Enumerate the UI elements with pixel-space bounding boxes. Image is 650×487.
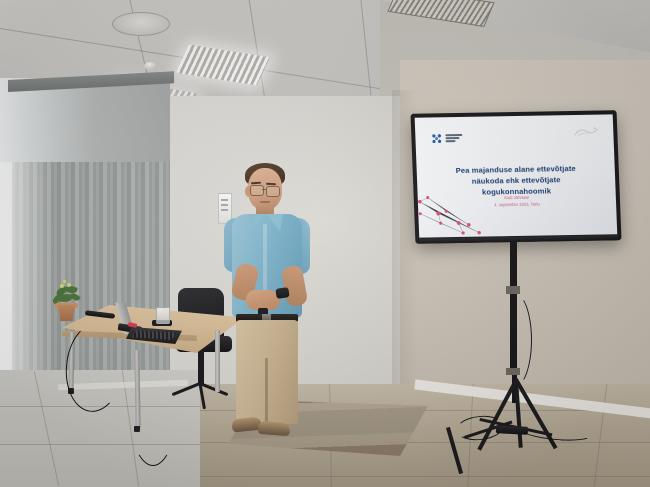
glasses-lens bbox=[250, 185, 264, 196]
glasses-bridge bbox=[262, 189, 267, 190]
shoe-right bbox=[258, 421, 291, 436]
presenter bbox=[218, 162, 326, 437]
drinking-glass bbox=[156, 307, 170, 324]
glasses-lens bbox=[266, 186, 280, 197]
smoke-detector bbox=[144, 62, 157, 70]
round-air-diffuser bbox=[112, 12, 170, 36]
chair-gas-post bbox=[198, 350, 204, 384]
slide-logo bbox=[431, 133, 462, 145]
plant-bloom bbox=[67, 283, 71, 287]
tv-bezel: Pea majanduse alane ettevõtjate näukoda … bbox=[410, 110, 621, 244]
network-dots-graphic bbox=[418, 192, 492, 237]
room-photograph: Pea majanduse alane ettevõtjate näukoda … bbox=[0, 0, 650, 487]
plant-bloom bbox=[63, 280, 66, 283]
floor-cable bbox=[519, 421, 592, 443]
power-cable bbox=[128, 344, 178, 466]
clasped-hands bbox=[246, 290, 280, 310]
logo-wordmark bbox=[445, 133, 462, 142]
organisation-logo-icon bbox=[431, 133, 442, 144]
mouth bbox=[260, 201, 270, 203]
secondary-logo-icon bbox=[573, 126, 599, 138]
tv-screen: Pea majanduse alane ettevõtjate näukoda … bbox=[415, 114, 618, 237]
wall-mounted-television: Pea majanduse alane ettevõtjate näukoda … bbox=[413, 112, 619, 250]
wristwatch bbox=[275, 287, 289, 299]
plant-bloom bbox=[60, 284, 64, 288]
tripod-stand bbox=[440, 240, 600, 470]
trouser-seam bbox=[265, 358, 268, 424]
tv-cable bbox=[496, 292, 532, 388]
